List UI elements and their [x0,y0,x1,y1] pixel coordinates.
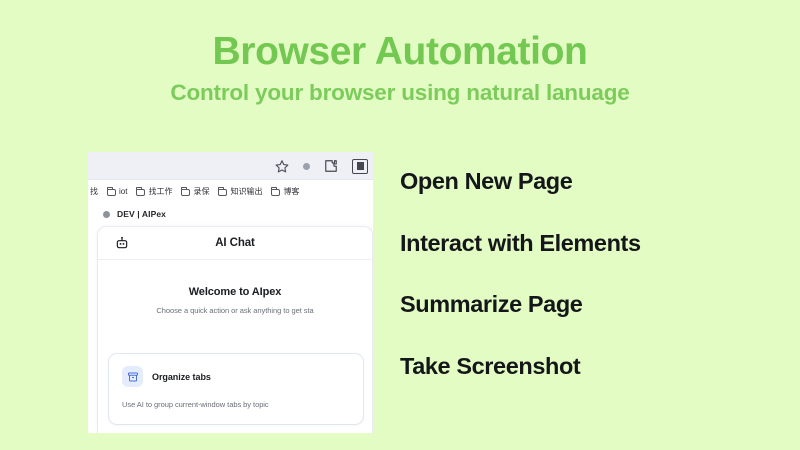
folder-icon [271,189,280,196]
bookmark-label: 博客 [283,188,299,196]
welcome-title: Welcome to AIpex [98,286,372,298]
bookmark-item[interactable]: 知识输出 [218,188,262,196]
browser-screenshot-panel: 找 iot 找工作 录保 知识输出 博客 DEV | AIPex [88,152,373,433]
bookmark-label: 录保 [193,188,209,196]
bookmark-item[interactable]: 找 [90,188,98,196]
welcome-subtitle: Choose a quick action or ask anything to… [98,306,372,315]
quick-action-card-organize-tabs[interactable]: Organize tabs Use AI to group current-wi… [108,353,364,425]
quick-action-card-description: Use AI to group current-window tabs by t… [122,400,350,409]
feature-item-interact-with-elements: Interact with Elements [400,232,760,256]
robot-icon[interactable] [115,236,129,250]
welcome-block: Welcome to AIpex Choose a quick action o… [98,286,372,315]
extensions-puzzle-icon[interactable] [324,159,338,173]
folder-icon [107,189,116,196]
bookmark-item[interactable]: 博客 [271,188,299,196]
bookmarks-bar: 找 iot 找工作 录保 知识输出 博客 [88,180,373,204]
browser-toolbar-icons [275,152,373,180]
tab-title: DEV | AIPex [117,209,166,219]
feature-list: Open New Page Interact with Elements Sum… [400,170,760,378]
bookmark-label: 找工作 [148,188,172,196]
page-subtitle: Control your browser using natural lanua… [0,81,800,106]
feature-item-open-new-page: Open New Page [400,170,760,194]
profile-avatar-icon[interactable] [352,159,368,174]
folder-icon [181,189,190,196]
browser-tab[interactable]: DEV | AIPex [88,204,373,224]
folder-icon [136,189,145,196]
quick-action-card-row: Organize tabs [122,366,350,387]
ai-chat-title: AI Chat [98,237,372,249]
bookmark-label: 找 [90,188,98,196]
bookmark-label: 知识输出 [230,188,262,196]
ai-chat-header: AI Chat [98,227,372,260]
tab-favicon-icon [103,211,110,218]
page-title: Browser Automation [0,31,800,73]
browser-toolbar [88,152,373,180]
feature-item-summarize-page: Summarize Page [400,293,760,317]
bookmark-star-icon[interactable] [275,159,289,173]
ai-chat-sidepanel: AI Chat Welcome to AIpex Choose a quick … [97,226,373,433]
dot-indicator-icon[interactable] [303,163,310,170]
bookmark-item[interactable]: 录保 [181,188,209,196]
feature-item-take-screenshot: Take Screenshot [400,355,760,379]
bookmark-label: iot [119,188,127,196]
folder-icon [218,189,227,196]
bookmark-item[interactable]: iot [107,188,127,196]
archive-box-icon [122,366,143,387]
bookmark-item[interactable]: 找工作 [136,188,172,196]
quick-action-card-title: Organize tabs [152,372,211,382]
hero-header: Browser Automation Control your browser … [0,0,800,106]
